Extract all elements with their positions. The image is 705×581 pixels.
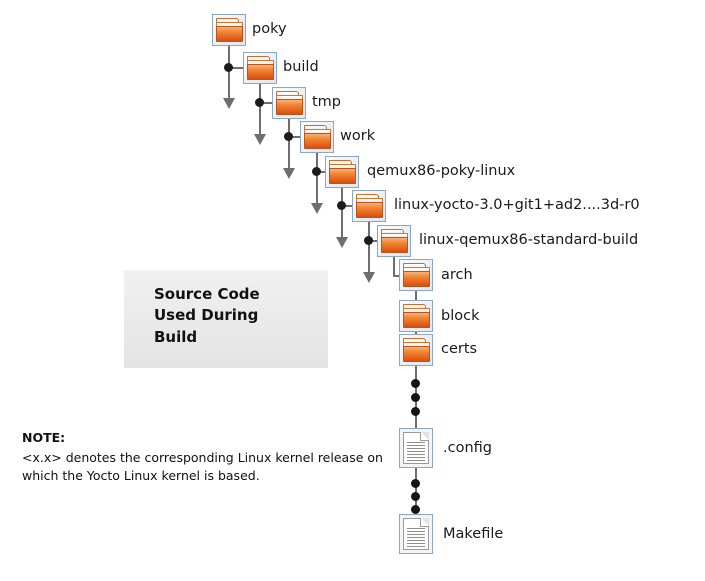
node-label-block: block (441, 309, 479, 324)
connector-vline-tmp (288, 119, 290, 170)
folder-icon (212, 14, 246, 46)
node-label-poky: poky (252, 22, 287, 37)
connector-dot-work (284, 132, 293, 141)
node-label-tmp: tmp (312, 95, 341, 110)
connector-vline-linuxyocto (368, 222, 370, 274)
folder-icon (399, 300, 433, 332)
node-block[interactable] (399, 300, 433, 332)
document-icon (399, 514, 433, 554)
connector-vline-standard-elbow (393, 257, 395, 277)
ellipsis-dot-4 (411, 479, 420, 488)
connector-dot-linuxyocto (337, 201, 346, 210)
node-label-build: build (283, 60, 319, 75)
connector-arrow-tmp (283, 168, 295, 179)
node-label-makefile: Makefile (443, 527, 503, 542)
node-certs[interactable] (399, 334, 433, 366)
ellipsis-dot-2 (411, 393, 420, 402)
folder-icon (272, 87, 306, 119)
connector-vline-qemux86 (341, 188, 343, 239)
connector-arrow-work (311, 203, 323, 214)
connector-arrow-linuxyocto (363, 272, 375, 283)
callout-box-source-code: Source Code Used During Build (124, 270, 328, 368)
node-build[interactable] (243, 52, 277, 84)
connector-dot-qemux86 (312, 167, 321, 176)
node-label-work: work (340, 129, 375, 144)
connector-arrow-qemux86 (336, 237, 348, 248)
connector-arrow-poky (223, 98, 235, 109)
node-qemux86-poky-linux[interactable] (325, 156, 359, 188)
node-config[interactable] (399, 428, 433, 468)
connector-vline-poky (228, 46, 230, 100)
node-label-certs: certs (441, 342, 477, 357)
diagram-canvas: poky build tmp work qemux86-poky-linux l… (0, 0, 705, 581)
connector-dot-build (224, 63, 233, 72)
ellipsis-dot-6 (411, 505, 420, 514)
node-label-qemux86-poky-linux: qemux86-poky-linux (367, 164, 515, 179)
folder-icon (325, 156, 359, 188)
ellipsis-dot-3 (411, 407, 420, 416)
node-arch[interactable] (399, 259, 433, 291)
node-work[interactable] (300, 121, 334, 153)
node-linux-qemux86-standard-build[interactable] (377, 225, 411, 257)
document-icon (399, 428, 433, 468)
node-label-arch: arch (441, 268, 473, 283)
folder-icon (243, 52, 277, 84)
ellipsis-dot-1 (411, 379, 420, 388)
folder-icon (377, 225, 411, 257)
ellipsis-dot-5 (411, 492, 420, 501)
connector-dot-tmp (255, 98, 264, 107)
node-tmp[interactable] (272, 87, 306, 119)
node-label-linux-yocto: linux-yocto-3.0+git1+ad2....3d-r0 (394, 198, 640, 213)
node-linux-yocto[interactable] (352, 190, 386, 222)
connector-vline-build (259, 84, 261, 136)
note-body: <x.x> denotes the corresponding Linux ke… (22, 449, 383, 485)
node-poky[interactable] (212, 14, 246, 46)
note-title: NOTE: (22, 432, 65, 445)
folder-icon (300, 121, 334, 153)
node-makefile[interactable] (399, 514, 433, 554)
folder-icon (399, 334, 433, 366)
connector-dot-standard (364, 236, 373, 245)
node-label-linux-qemux86-standard-build: linux-qemux86-standard-build (419, 233, 638, 248)
folder-icon (352, 190, 386, 222)
node-label-config: .config (443, 441, 492, 456)
connector-vline-work (316, 153, 318, 205)
folder-icon (399, 259, 433, 291)
callout-text: Source Code Used During Build (154, 284, 260, 348)
connector-arrow-build (254, 134, 266, 145)
